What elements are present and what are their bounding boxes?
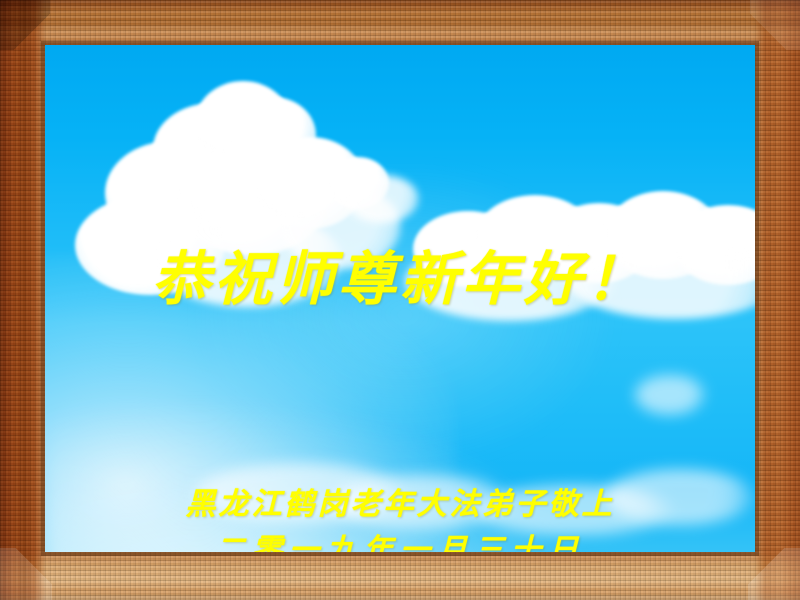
signature-block: 黑龙江鹤岗老年大法弟子敬上 二零一九年一月三十日 xyxy=(45,482,755,552)
signature-date: 二零一九年一月三十日 xyxy=(45,528,755,552)
sky-photo: 恭祝师尊新年好！ 黑龙江鹤岗老年大法弟子敬上 二零一九年一月三十日 xyxy=(45,45,755,552)
greeting-headline: 恭祝师尊新年好！ xyxy=(45,250,755,308)
cloud-puff xyxy=(345,175,419,223)
signature-sender: 黑龙江鹤岗老年大法弟子敬上 xyxy=(45,482,755,528)
cloud-wisp xyxy=(635,375,705,415)
greeting-card: 恭祝师尊新年好！ 黑龙江鹤岗老年大法弟子敬上 二零一九年一月三十日 xyxy=(0,0,800,600)
